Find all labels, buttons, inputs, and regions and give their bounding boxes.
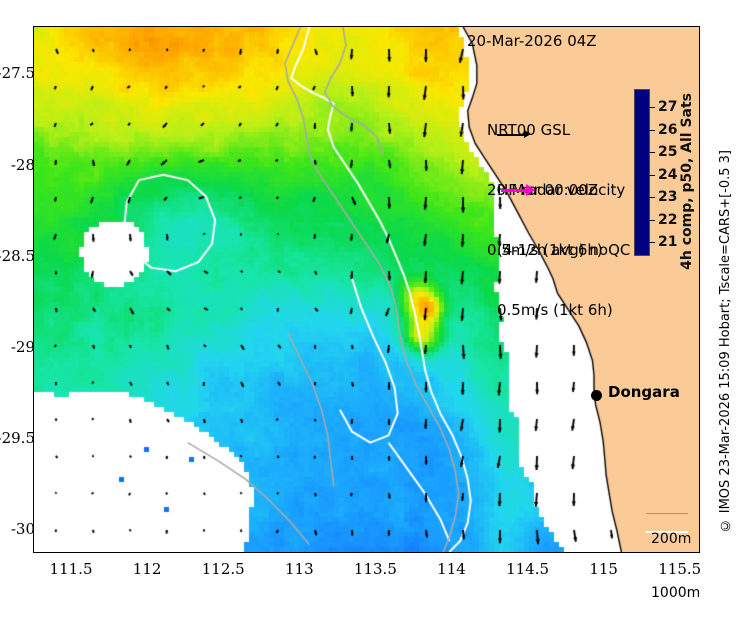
legend-hf-line2: (4-12h avg) noQC xyxy=(497,240,630,260)
y-tick-label: -28.5 xyxy=(0,247,35,265)
colorbar-gradient xyxy=(634,89,650,256)
x-tick xyxy=(224,26,225,27)
colorbar-tick-label: 27 xyxy=(658,99,677,115)
x-tick xyxy=(148,26,149,27)
x-tick-label: 113.5 xyxy=(354,560,397,578)
y-tick xyxy=(699,166,700,167)
x-tick-label: 113 xyxy=(285,560,314,578)
y-tick-label: -28 xyxy=(11,156,35,174)
x-tick-label: 115 xyxy=(589,560,618,578)
x-tick xyxy=(376,26,377,27)
y-tick xyxy=(699,439,700,440)
y-tick-label: -30 xyxy=(11,520,35,538)
y-tick xyxy=(699,257,700,258)
y-tick xyxy=(699,348,700,349)
y-tick-label: -29.5 xyxy=(0,429,35,447)
x-tick xyxy=(681,26,682,27)
x-tick-label: 112.5 xyxy=(202,560,245,578)
colorbar-title: 4h comp, p50, All Sats xyxy=(679,93,695,270)
colorbar-tick xyxy=(650,130,655,131)
title-date: 20-Mar-2026 04Z xyxy=(467,32,597,50)
colorbar-tick xyxy=(650,107,655,108)
legend-hf-line3: 0.5m/s (1kt 6h) xyxy=(497,300,630,320)
colorbar-tick xyxy=(650,197,655,198)
colorbar-tick-label: 22 xyxy=(658,212,677,228)
y-tick-label: -29 xyxy=(11,338,35,356)
depth-shallow-label: 200m xyxy=(651,530,700,548)
colorbar-tick-label: 23 xyxy=(658,189,677,205)
colorbar-tick xyxy=(650,175,655,176)
x-tick-label: 111.5 xyxy=(50,560,93,578)
x-tick xyxy=(72,26,73,27)
y-tick xyxy=(699,74,700,75)
colorbar-tick-label: 21 xyxy=(658,234,677,250)
colorbar-tick-label: 24 xyxy=(658,167,677,183)
colorbar-tick-label: 25 xyxy=(658,144,677,160)
x-tick xyxy=(605,26,606,27)
dongara-label: Dongara xyxy=(608,383,680,401)
colorbar-tick xyxy=(650,152,655,153)
depth-deep-label: 1000m xyxy=(651,584,700,602)
hf-reference-arrow-icon xyxy=(501,189,529,192)
colorbar-tick xyxy=(650,242,655,243)
sst-map-figure: 111.5112112.5113113.5114114.5115115.5 -2… xyxy=(0,0,740,592)
credit-text: © IMOS 23-Mar-2026 15:09 Hobart; Tscale=… xyxy=(718,150,733,532)
legend-hf-text: HF radar velocity (4-12h avg) noQC 0.5m/… xyxy=(497,140,630,360)
hf-reference-arrowhead-icon xyxy=(526,184,535,196)
legend-gsl-line1: NRT00 GSL xyxy=(487,120,603,140)
x-tick-label: 114 xyxy=(437,560,466,578)
colorbar-tick-label: 26 xyxy=(658,122,677,138)
x-tick xyxy=(452,26,453,27)
depth-scale-labels: 200m 1000m xyxy=(651,494,700,638)
x-tick xyxy=(300,26,301,27)
colorbar: 21222324252627 xyxy=(634,89,650,256)
dongara-marker-icon xyxy=(591,390,602,401)
x-tick xyxy=(529,26,530,27)
x-tick-label: 114.5 xyxy=(506,560,549,578)
y-tick-label: -27.5 xyxy=(0,64,35,82)
colorbar-tick xyxy=(650,220,655,221)
x-tick-label: 112 xyxy=(133,560,162,578)
